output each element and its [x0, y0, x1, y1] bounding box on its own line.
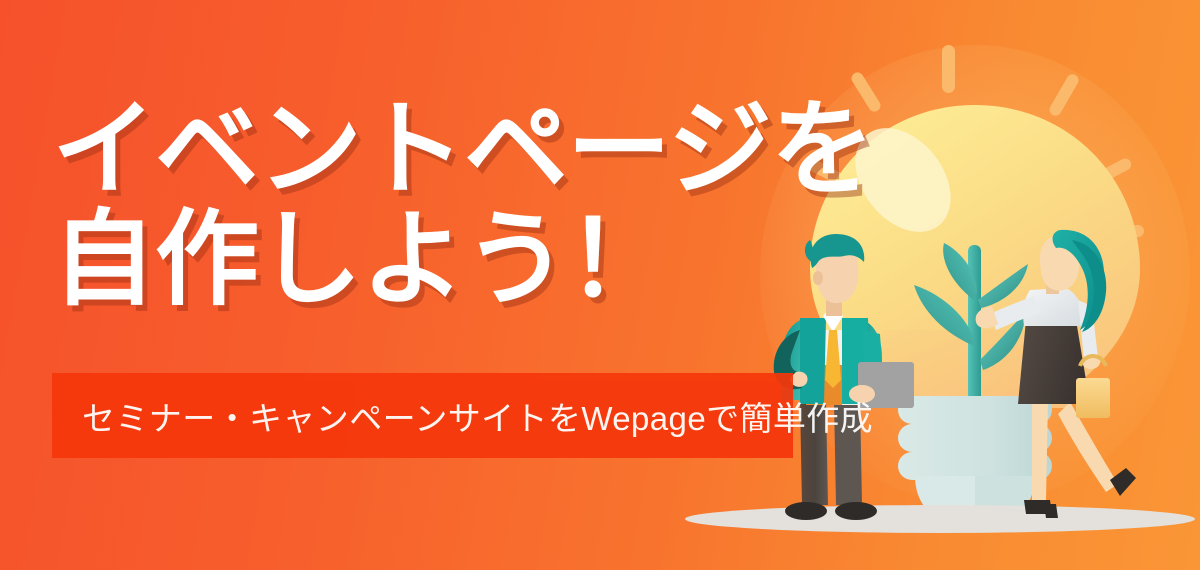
woman-skirt — [1018, 320, 1090, 404]
sprout — [914, 243, 1028, 410]
bulb-base — [898, 396, 1052, 530]
subtitle-banner: セミナー・キャンペーンサイトをWepageで簡単作成 — [52, 373, 793, 458]
woman-shoe-back — [1110, 468, 1136, 496]
man-tie — [825, 330, 841, 388]
woman-blouse — [1023, 288, 1082, 326]
bulb-base-tip — [915, 476, 1035, 530]
woman-shoe-front — [1024, 500, 1052, 514]
sprout-leaf-top-left — [943, 243, 977, 300]
bulb-glass-lower — [882, 330, 1068, 408]
headline-line-2: 自作しよう！ — [52, 206, 872, 314]
subtitle-text: セミナー・キャンペーンサイトをWepageで簡単作成 — [52, 392, 873, 440]
ground-shadow — [685, 505, 1195, 533]
woman-arm-extended — [990, 296, 1040, 330]
businesswoman — [976, 230, 1136, 518]
man-arm-right — [862, 330, 884, 394]
man-shoe-right — [835, 502, 877, 520]
sprout-leaf-top-right — [978, 264, 1028, 308]
handbag-handle — [1080, 356, 1106, 366]
woman-hair — [1053, 230, 1104, 330]
promo-banner: イベントページを 自作しよう！ セミナー・キャンペーンサイトをWepageで簡単… — [0, 0, 1200, 570]
woman-hand-extended — [976, 306, 998, 328]
woman-hair-back — [1072, 240, 1106, 332]
woman-leg-front — [1032, 400, 1048, 500]
sprout-leaf-right — [980, 312, 1026, 370]
sprout-leaf-left — [914, 285, 975, 345]
woman-leg-back — [1058, 402, 1118, 492]
handbag — [1076, 378, 1110, 418]
headline-line-1: イベントページを — [52, 96, 872, 204]
sprout-stem — [968, 245, 981, 410]
man-shoe-left — [785, 502, 827, 520]
woman-arm-bag — [1078, 300, 1098, 360]
woman-hand-bag — [1082, 355, 1100, 369]
headline-block: イベントページを 自作しよう！ — [52, 96, 872, 314]
woman-head — [1040, 235, 1080, 291]
woman-neck — [1046, 280, 1059, 294]
